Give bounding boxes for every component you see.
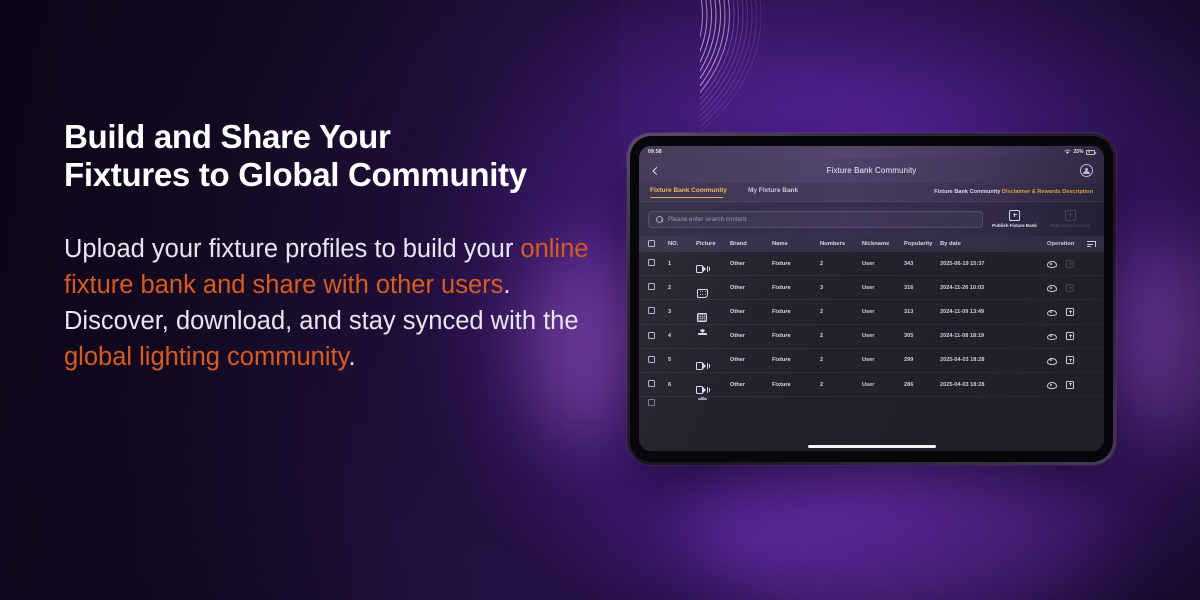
cell-name: Fixture [772, 333, 820, 339]
row-checkbox[interactable] [648, 356, 655, 363]
select-all-checkbox[interactable] [648, 240, 655, 247]
table-row[interactable]: 1OtherFixture2User3432025-06-19 15:37 [639, 252, 1104, 276]
desc-segment-1: Upload your fixture profiles to build yo… [64, 235, 520, 263]
row-checkbox[interactable] [648, 307, 655, 314]
cell-operation [1047, 308, 1095, 316]
select-all-cell [648, 240, 668, 249]
col-operation: Operation [1047, 241, 1074, 247]
col-name[interactable]: Name [772, 241, 820, 247]
row-checkbox-cell [648, 380, 668, 389]
table-row[interactable]: 4OtherFixture2User3052024-11-08 18:19 [639, 325, 1104, 349]
table-row[interactable]: 2OtherFixture3User3162024-11-26 10:03 [639, 276, 1104, 300]
cell-nickname: User [862, 261, 904, 267]
row-checkbox-cell [648, 259, 668, 268]
row-checkbox[interactable] [648, 380, 655, 387]
page-title: Build and Share Your Fixtures to Global … [64, 118, 609, 194]
chevron-left-icon[interactable] [650, 166, 660, 176]
tablet-bezel: 09:58 25% Fixture Bank Community Fixtur [630, 136, 1113, 462]
app-navbar: Fixture Bank Community [639, 158, 1104, 183]
cell-operation [1047, 356, 1095, 364]
view-icon[interactable] [1047, 260, 1055, 268]
table-row-partial [639, 397, 1104, 406]
cell-numbers: 3 [820, 285, 862, 291]
disclaimer-link-text: Disclaimer & Rewards Description [1002, 189, 1093, 195]
cell-popularity: 299 [904, 357, 940, 363]
cell-by-date: 2025-04-03 18:28 [940, 357, 1047, 363]
cell-by-date: 2024-11-09 13:49 [940, 309, 1047, 315]
home-indicator[interactable] [808, 445, 936, 448]
bulk-download-button-label: Bulk Downloading [1051, 223, 1090, 228]
status-indicators: 25% [1064, 149, 1095, 155]
cell-numbers: 2 [820, 309, 862, 315]
sort-filter-icon[interactable] [1087, 240, 1095, 248]
cell-popularity: 305 [904, 333, 940, 339]
cell-operation [1047, 381, 1095, 389]
battery-icon [1086, 150, 1095, 155]
cell-operation [1047, 284, 1095, 292]
row-checkbox[interactable] [648, 283, 655, 290]
row-checkbox[interactable] [648, 259, 655, 266]
cell-numbers: 2 [820, 382, 862, 388]
cell-no: 2 [668, 285, 696, 291]
tab-bar: Fixture Bank Community My Fixture Bank F… [639, 183, 1104, 202]
cell-name: Fixture [772, 357, 820, 363]
row-checkbox[interactable] [648, 332, 655, 339]
battery-percent: 25% [1073, 149, 1083, 155]
publish-fixture-bank-button[interactable]: Publish Fixture Bank [990, 210, 1039, 228]
cell-brand: Other [730, 309, 772, 315]
search-placeholder: Please enter search content [668, 216, 746, 223]
app-title: Fixture Bank Community [639, 166, 1104, 175]
cell-no: 1 [668, 261, 696, 267]
table-row[interactable]: 3OtherFixture2User3132024-11-09 13:49 [639, 300, 1104, 324]
download-icon[interactable] [1066, 308, 1074, 316]
disclaimer-link[interactable]: Fixture Bank Community Disclaimer & Rewa… [934, 189, 1093, 195]
cell-brand: Other [730, 333, 772, 339]
download-icon[interactable] [1066, 356, 1074, 364]
upload-file-icon [1009, 210, 1020, 221]
disclaimer-prefix: Fixture Bank Community [934, 189, 1002, 195]
cell-no: 4 [668, 333, 696, 339]
fixture-table: NO. Picture Brand Name Numbers Nickname … [639, 236, 1104, 451]
cell-popularity: 286 [904, 382, 940, 388]
col-brand[interactable]: Brand [730, 241, 772, 247]
cell-name: Fixture [772, 382, 820, 388]
status-bar: 09:58 25% [639, 146, 1104, 158]
row-checkbox-cell [648, 356, 668, 365]
cell-no: 6 [668, 382, 696, 388]
col-nickname[interactable]: Nickname [862, 241, 904, 247]
col-popularity[interactable]: Popularity [904, 241, 940, 247]
tab-fixture-bank-community[interactable]: Fixture Bank Community [650, 187, 727, 197]
cell-operation [1047, 260, 1095, 268]
headline-line-1: Build and Share Your [64, 118, 391, 155]
col-numbers[interactable]: Numbers [820, 241, 862, 247]
cell-nickname: User [862, 285, 904, 291]
cell-name: Fixture [772, 261, 820, 267]
cell-name: Fixture [772, 285, 820, 291]
search-toolbar: Please enter search content Publish Fixt… [639, 202, 1104, 236]
cell-popularity: 313 [904, 309, 940, 315]
tablet-device: 09:58 25% Fixture Bank Community Fixtur [627, 133, 1116, 465]
row-checkbox-cell [648, 332, 668, 341]
cell-numbers: 2 [820, 333, 862, 339]
cell-no: 3 [668, 309, 696, 315]
cell-by-date: 2024-11-26 10:03 [940, 285, 1047, 291]
cell-brand: Other [730, 261, 772, 267]
hero-description: Upload your fixture profiles to build yo… [64, 231, 609, 376]
cell-by-date: 2025-06-19 15:37 [940, 261, 1047, 267]
headline-line-2: Fixtures to Global Community [64, 156, 609, 194]
col-no[interactable]: NO. [668, 241, 696, 247]
table-row[interactable]: 5OtherFixture2User2992025-04-03 18:28 [639, 349, 1104, 373]
col-operation-wrap: Operation [1047, 240, 1095, 248]
tablet-screen: 09:58 25% Fixture Bank Community Fixtur [639, 146, 1104, 451]
cell-nickname: User [862, 309, 904, 315]
cell-brand: Other [730, 382, 772, 388]
cell-popularity: 343 [904, 261, 940, 267]
table-row[interactable]: 6OtherFixture2User2862025-04-03 18:28 [639, 373, 1104, 397]
view-icon[interactable] [1047, 356, 1055, 364]
cell-no: 5 [668, 357, 696, 363]
table-body: 1OtherFixture2User3432025-06-19 15:372Ot… [639, 252, 1104, 397]
cell-name: Fixture [772, 309, 820, 315]
cell-popularity: 316 [904, 285, 940, 291]
row-checkbox-cell [648, 307, 668, 316]
view-icon[interactable] [1047, 308, 1055, 316]
user-avatar-icon[interactable] [1080, 164, 1093, 177]
download-icon [1066, 260, 1074, 268]
cell-numbers: 2 [820, 261, 862, 267]
table-header-row: NO. Picture Brand Name Numbers Nickname … [639, 236, 1104, 252]
view-icon[interactable] [1047, 381, 1055, 389]
row-checkbox[interactable] [648, 399, 655, 406]
status-time: 09:58 [648, 149, 662, 155]
cell-brand: Other [730, 285, 772, 291]
download-icon[interactable] [1066, 381, 1074, 389]
bulk-downloading-button: Bulk Downloading [1046, 210, 1095, 228]
search-input[interactable]: Please enter search content [648, 211, 983, 228]
download-icon [1066, 284, 1074, 292]
col-by-date[interactable]: By date [940, 241, 1047, 247]
row-checkbox-cell [648, 283, 668, 292]
partial-checkbox-cell [648, 397, 668, 406]
view-icon[interactable] [1047, 332, 1055, 340]
cell-numbers: 2 [820, 357, 862, 363]
desc-segment-3: . [348, 343, 355, 371]
download-file-icon [1065, 210, 1076, 221]
cell-nickname: User [862, 382, 904, 388]
search-icon [656, 216, 663, 223]
cell-by-date: 2025-04-03 18:28 [940, 382, 1047, 388]
publish-button-label: Publish Fixture Bank [992, 223, 1037, 228]
cell-nickname: User [862, 333, 904, 339]
wifi-icon [1064, 149, 1071, 154]
col-picture[interactable]: Picture [696, 241, 730, 247]
cell-brand: Other [730, 357, 772, 363]
desc-highlight-2: global lighting community [64, 343, 348, 371]
cell-operation [1047, 332, 1095, 340]
download-icon[interactable] [1066, 332, 1074, 340]
cell-by-date: 2024-11-08 18:19 [940, 333, 1047, 339]
cell-nickname: User [862, 357, 904, 363]
view-icon[interactable] [1047, 284, 1055, 292]
tab-my-fixture-bank[interactable]: My Fixture Bank [748, 187, 798, 197]
hero-copy: Build and Share Your Fixtures to Global … [64, 118, 609, 376]
